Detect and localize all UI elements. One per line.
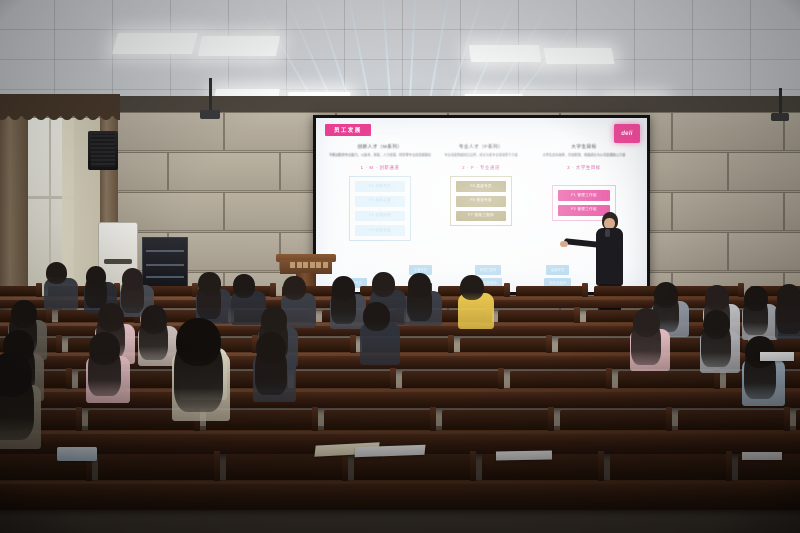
audience-head (86, 266, 106, 288)
column-heading: 专业人才（P系列） (429, 144, 533, 150)
bench-seat[interactable] (226, 454, 344, 480)
flow-connector: ↓ (355, 207, 405, 211)
audience-head (46, 262, 67, 284)
audience-member (0, 352, 42, 472)
audience-head (198, 272, 220, 296)
column-subtext: 专业深度跨越岗位边界，成长为各专业领域骨干力量 (429, 153, 533, 158)
bench-post (312, 407, 318, 431)
bottom-box: 管理工程师 (475, 265, 501, 275)
audience-member (253, 332, 297, 418)
ceiling-light-panel (112, 33, 198, 54)
paper-sheet (742, 452, 782, 460)
speaker-grill (91, 134, 115, 167)
bench-seat[interactable] (560, 410, 668, 430)
flow-box: P4 创新总监 (355, 225, 405, 236)
bench-post (470, 451, 476, 481)
bench-post (666, 407, 672, 431)
slide-column-1: 创新人才（M系列） 不断创新的专业能力，以技术、研发、人力资源、财务等专业线发展… (328, 144, 432, 241)
column-label: 1 · M · 创新通道 (328, 165, 432, 171)
bench-post (498, 368, 504, 389)
bench-post (598, 451, 604, 481)
wall-panel (784, 192, 800, 231)
slide-title-tag: 员工发展 (325, 124, 371, 136)
bench-post (574, 307, 580, 323)
podium-nameplate (290, 262, 328, 268)
microphone-icon (605, 229, 610, 237)
deli-logo: deli (614, 124, 640, 143)
audience-head (744, 286, 767, 311)
wall-speaker (88, 131, 118, 170)
ceiling-light-panel (469, 45, 541, 62)
audience-head (98, 303, 125, 332)
bench-seat[interactable] (498, 310, 576, 322)
audience-head (654, 282, 678, 308)
audience-head (261, 306, 288, 335)
bench-post (430, 407, 436, 431)
bench-post (548, 407, 554, 431)
bench-seat[interactable] (354, 454, 472, 480)
column-label: 2 · P · 专业通道 (429, 165, 533, 171)
slide-column-2: 专业人才（P系列） 专业深度跨越岗位边界，成长为各专业领域骨干力量 2 · P … (429, 144, 533, 226)
audience-head (332, 276, 355, 301)
desk-row (0, 480, 800, 510)
flow-box: P6 资深专家 (456, 196, 506, 207)
bench-post (726, 451, 732, 481)
audience-head (89, 332, 120, 365)
audience-member (406, 273, 443, 338)
audience-head (283, 276, 305, 300)
bench-post (546, 335, 552, 353)
bench-post (606, 368, 612, 389)
wall-panel (168, 152, 280, 191)
bench-post (448, 335, 454, 353)
audience-member (360, 302, 401, 379)
audience-member (700, 310, 741, 387)
bench-post (36, 283, 42, 297)
audience-head (363, 302, 390, 331)
projector-mount-pole (779, 88, 782, 116)
flow-box: P7 首席工程师 (456, 211, 506, 222)
ceiling-light-panel (543, 48, 614, 64)
bottom-group: 高级专员 首席/高级师 (544, 265, 571, 288)
audience-member (172, 318, 231, 445)
flow-box: P1 创新专员 (355, 181, 405, 192)
bench-post (76, 407, 82, 431)
flow-box: P5 高级专员 (456, 181, 506, 192)
audience-head (703, 310, 730, 339)
audience-member (44, 262, 79, 321)
wall-panel (672, 192, 784, 231)
cabinet-shelf (146, 264, 185, 266)
audience-head (705, 285, 729, 311)
bench-post (342, 451, 348, 481)
column-box-group: P1 创新专员 ↓ P2 创新主管 ↓ P3 创新经理 ↓ P4 创新总监 (349, 176, 411, 241)
audience-head (176, 318, 221, 366)
bench-seat[interactable] (324, 410, 432, 430)
audience-head (460, 275, 483, 300)
column-subtext: 大学生定向培养，开启职场、快速成长为公司发展核心力量 (532, 153, 636, 158)
audience-member (742, 336, 786, 422)
audience-member (630, 308, 671, 385)
column-heading: 创新人才（M系列） (328, 144, 432, 150)
column-heading: 大学生目标 (532, 144, 636, 150)
desk-highlight (0, 481, 800, 484)
wall-panel (728, 232, 800, 271)
bench-post (504, 283, 510, 297)
column-subtext: 不断创新的专业能力，以技术、研发、人力资源、财务等专业线发展路径 (328, 153, 432, 158)
audience-head (408, 273, 431, 298)
lecture-hall-photo: 员工发展 deli 创新人才（M系列） 不断创新的专业能力，以技术、研发、人力资… (0, 0, 800, 533)
audience-head (633, 308, 660, 337)
bench-seat[interactable] (796, 410, 800, 430)
bench-seat[interactable] (98, 454, 216, 480)
projector-body (771, 113, 789, 121)
bench-seat[interactable] (442, 410, 550, 430)
tissue-pack (57, 447, 97, 461)
audience-head (233, 274, 255, 298)
wall-panel (672, 112, 784, 151)
audience-head (141, 305, 168, 334)
bench-seat[interactable] (402, 371, 500, 388)
audience-head (11, 300, 37, 328)
projector-mount-pole (209, 78, 212, 114)
wall-panel (728, 152, 800, 191)
column-label: 3 · 大学生目标 (532, 165, 636, 171)
presenter-hand (560, 241, 568, 247)
bench-seat[interactable] (610, 454, 728, 480)
flow-box: P2 创新主管 (355, 196, 405, 207)
desk-highlight (0, 431, 800, 434)
bench-post (270, 283, 276, 297)
flow-connector: ↓ (456, 207, 506, 211)
wall-top-shadow-strip (0, 96, 800, 112)
audience-head (777, 284, 800, 310)
cabinet-shelf (146, 250, 185, 252)
bench-seat[interactable] (0, 286, 38, 296)
flow-box: P3 创新经理 (355, 211, 405, 222)
paper-sheet (760, 352, 794, 361)
bench-post (56, 335, 62, 353)
audience-head (256, 332, 286, 364)
bench-seat[interactable] (510, 371, 608, 388)
curtain-valance (0, 94, 120, 116)
bottom-box: 高级专员 (546, 265, 569, 275)
projector-body (200, 110, 220, 119)
audience-head (122, 268, 143, 291)
audience-member (86, 332, 131, 419)
audience-member (458, 275, 495, 342)
bench-post (66, 368, 72, 389)
paper-sheet (496, 451, 552, 461)
audience-head (372, 272, 395, 297)
bench-seat[interactable] (516, 286, 584, 296)
flow-box: P1 管理工作组 (558, 190, 610, 201)
column-box-group: P5 高级专员 ↓ P6 资深专家 ↓ P7 首席工程师 (450, 176, 512, 226)
slide-column-3: 大学生目标 大学生定向培养，开启职场、快速成长为公司发展核心力量 3 · 大学生… (532, 144, 636, 221)
ceiling-light-panel (198, 36, 280, 56)
bench-post (214, 451, 220, 481)
bench-post (582, 283, 588, 297)
ac-vent (104, 259, 133, 264)
